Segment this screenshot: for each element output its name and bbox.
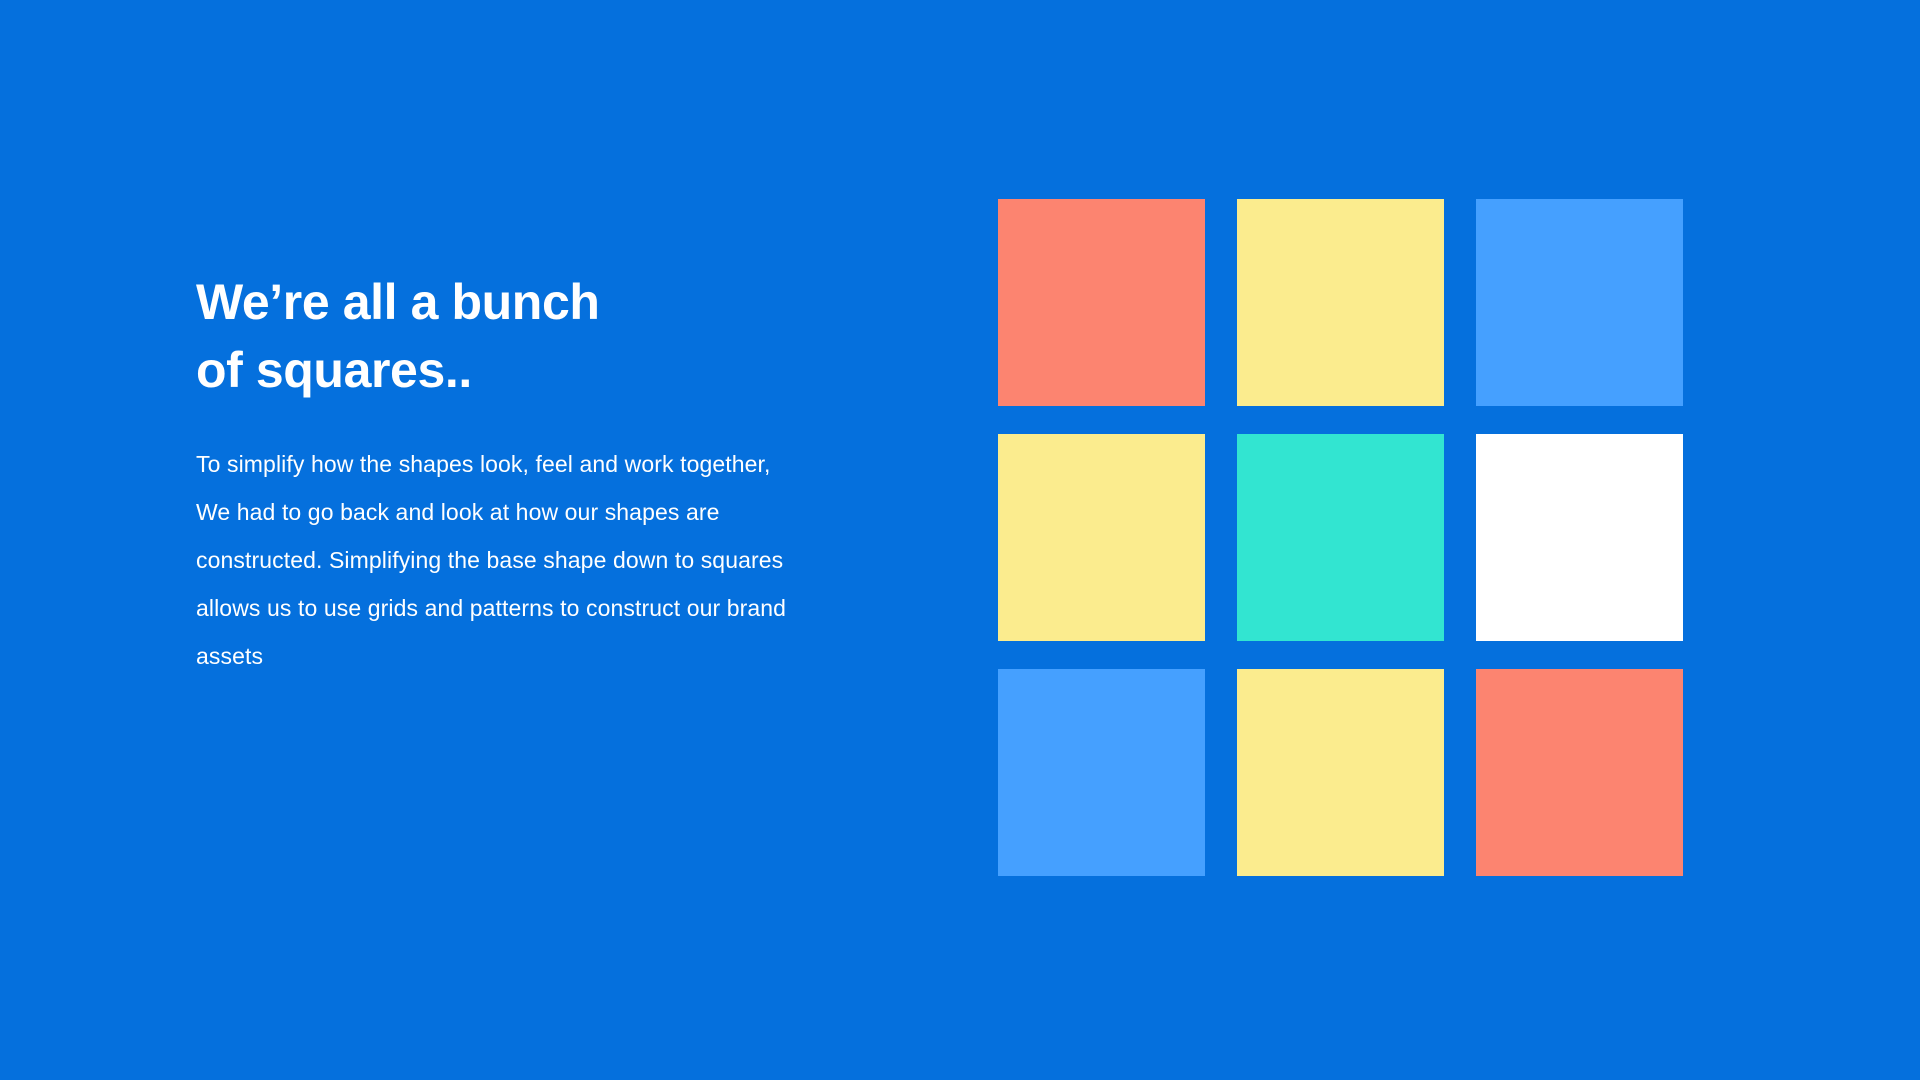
square-r2c1 [998, 434, 1205, 641]
square-r3c3 [1476, 669, 1683, 876]
square-r3c1 [998, 669, 1205, 876]
square-r3c2 [1237, 669, 1444, 876]
text-column: We’re all a bunch of squares.. To simpli… [196, 268, 816, 680]
square-r1c1 [998, 199, 1205, 406]
page-title: We’re all a bunch of squares.. [196, 268, 816, 404]
square-r1c3 [1476, 199, 1683, 406]
square-grid [998, 199, 1684, 876]
square-r1c2 [1237, 199, 1444, 406]
square-r2c3 [1476, 434, 1683, 641]
square-r2c2 [1237, 434, 1444, 641]
slide-canvas: We’re all a bunch of squares.. To simpli… [0, 0, 1920, 1080]
body-paragraph: To simplify how the shapes look, feel an… [196, 404, 796, 680]
headline-line-2: of squares.. [196, 336, 816, 404]
headline-line-1: We’re all a bunch [196, 268, 816, 336]
